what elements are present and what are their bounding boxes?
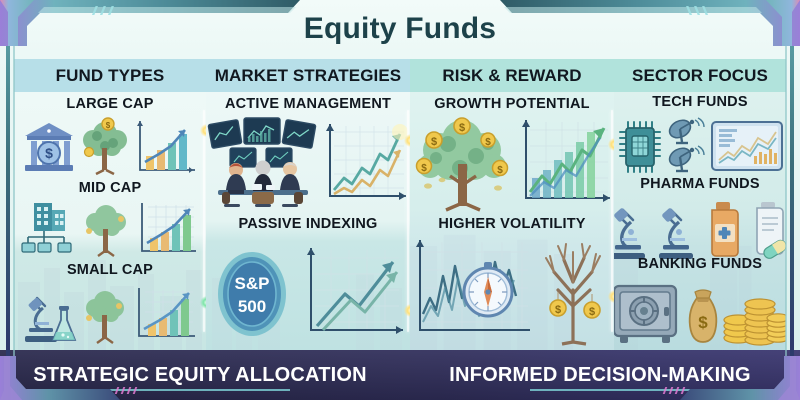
title-bar: Equity Funds — [0, 0, 800, 58]
trader-right — [280, 162, 303, 207]
frame-right-rail — [790, 10, 794, 390]
dual-line-chart-icon — [322, 120, 408, 208]
volatile-line-chart-icon — [410, 236, 532, 344]
svg-text:$: $ — [45, 145, 53, 161]
panel-risk-reward: GROWTH POTENTIAL — [410, 92, 614, 350]
sublabel-banking-funds: BANKING FUNDS — [614, 256, 786, 272]
footer-text-left: STRATEGIC EQUITY ALLOCATION — [0, 364, 400, 387]
column-header-risk-reward: RISK & REWARD — [410, 66, 614, 86]
footer-accent-line-right — [530, 389, 770, 391]
money-tree-icon: $ $ $ $ $ — [412, 114, 512, 210]
column-header-sector-focus: SECTOR FOCUS — [614, 66, 786, 86]
bare-tree-coins-icon: $ $ — [532, 238, 614, 344]
money-bag-icon: $ — [686, 286, 720, 346]
satellite-dish-icon — [666, 118, 708, 176]
svg-text:$: $ — [485, 137, 491, 148]
sublabel-mid-cap: MID CAP — [14, 180, 206, 196]
footer-band: STRATEGIC EQUITY ALLOCATION INFORMED DEC… — [0, 350, 800, 400]
svg-text:$: $ — [421, 163, 427, 174]
double-arrow-chart-icon — [301, 244, 405, 342]
footer-accent-line-left — [30, 389, 290, 391]
microscope-icon — [614, 200, 653, 260]
svg-text:$: $ — [698, 313, 708, 332]
satellite-dish-upper — [667, 117, 704, 143]
satellite-dish-lower — [667, 145, 704, 171]
svg-text:$: $ — [106, 121, 111, 130]
tree-icon — [81, 286, 129, 344]
column-headers: FUND TYPES MARKET STRATEGIES RISK & REWA… — [14, 59, 786, 92]
svg-text:$: $ — [431, 136, 437, 148]
traders-at-monitors-icon — [208, 118, 316, 208]
column-header-market-strategies: MARKET STRATEGIES — [206, 66, 410, 86]
pill-bottle-icon — [705, 200, 745, 260]
microscope-flask-icon — [23, 284, 77, 344]
svg-text:$: $ — [589, 306, 595, 318]
sp500-coin-icon: S&P 500 — [211, 242, 293, 342]
safe-vault-icon — [614, 280, 684, 346]
dashboard-screen-icon — [710, 118, 784, 176]
sublabel-small-cap: SMALL CAP — [14, 262, 206, 278]
bar-chart-growth-icon — [136, 201, 198, 257]
bar-chart-growth-icon — [133, 286, 197, 344]
office-building-org-chart-icon — [22, 201, 76, 257]
sublabel-growth-potential: GROWTH POTENTIAL — [410, 96, 614, 112]
panels-grid: LARGE CAP $ — [14, 92, 786, 350]
cpu-chip-icon — [616, 118, 664, 176]
sublabel-passive-indexing: PASSIVE INDEXING — [206, 216, 410, 232]
page-title: Equity Funds — [304, 12, 496, 46]
infographic-canvas: Equity Funds FUND TYPES MARKET STRATEGIE… — [0, 0, 800, 400]
microscope-icon — [657, 200, 701, 260]
panel-fund-types: LARGE CAP $ — [14, 92, 206, 350]
capsule-icon — [749, 200, 786, 260]
panel-market-strategies: ACTIVE MANAGEMENT — [206, 92, 410, 350]
sublabel-large-cap: LARGE CAP — [14, 96, 206, 112]
money-tree-icon: $ — [79, 118, 131, 176]
coin-stacks-icon — [722, 280, 786, 346]
frame-left-rail — [6, 10, 10, 390]
column-header-fund-types: FUND TYPES — [14, 66, 206, 86]
bank-icon: $ — [23, 120, 75, 176]
sublabel-pharma-funds: PHARMA FUNDS — [614, 176, 786, 192]
svg-text:$: $ — [497, 165, 503, 176]
svg-text:$: $ — [555, 304, 561, 316]
sublabel-active-management: ACTIVE MANAGEMENT — [206, 96, 410, 112]
sp500-badge-line2: 500 — [238, 297, 266, 316]
ascending-bar-arrow-chart-icon — [516, 116, 612, 210]
panel-sector-focus: TECH FUNDS — [614, 92, 786, 350]
footer-text-right: INFORMED DECISION-MAKING — [400, 364, 800, 387]
trader-left — [222, 163, 246, 207]
sublabel-higher-volatility: HIGHER VOLATILITY — [410, 216, 614, 232]
sublabel-tech-funds: TECH FUNDS — [614, 94, 786, 110]
bar-chart-growth-icon — [135, 118, 197, 176]
svg-text:$: $ — [459, 122, 465, 134]
tree-icon — [80, 201, 132, 257]
sp500-badge-line1: S&P — [235, 274, 270, 293]
